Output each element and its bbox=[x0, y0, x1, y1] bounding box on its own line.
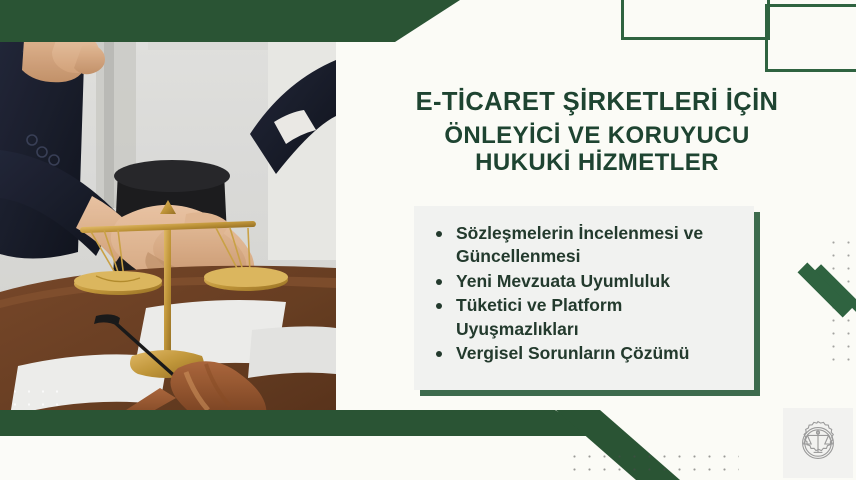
title-line-1: E-TİCARET ŞİRKETLERİ İÇİN bbox=[352, 88, 842, 118]
bottom-dot-grid bbox=[567, 450, 739, 480]
page-title: E-TİCARET ŞİRKETLERİ İÇİN ÖNLEYİCİ VE KO… bbox=[352, 88, 842, 177]
list-item: Sözleşmelerin İncelenmesi ve Güncellenme… bbox=[456, 222, 740, 269]
title-line-3: HUKUKİ HİZMETLER bbox=[352, 149, 842, 177]
list-item: Vergisel Sorunların Çözümü bbox=[456, 342, 740, 365]
list-item: Yeni Mevzuata Uyumluluk bbox=[456, 270, 740, 293]
scales-of-justice-icon bbox=[794, 419, 842, 467]
decor-rectangle-left bbox=[621, 0, 770, 40]
decor-rectangle-right bbox=[765, 4, 856, 72]
poster-canvas: E-TİCARET ŞİRKETLERİ İÇİN ÖNLEYİCİ VE KO… bbox=[0, 0, 856, 480]
services-list: Sözleşmelerin İncelenmesi ve Güncellenme… bbox=[414, 206, 754, 366]
logo-badge bbox=[783, 408, 853, 478]
title-line-2: ÖNLEYİCİ VE KORUYUCU bbox=[352, 122, 842, 150]
hero-photo bbox=[0, 0, 336, 432]
bottom-green-bar bbox=[0, 410, 600, 436]
services-card: Sözleşmelerin İncelenmesi ve Güncellenme… bbox=[414, 206, 754, 390]
list-item: Tüketici ve Platform Uyuşmazlıkları bbox=[456, 294, 740, 341]
card-surface: Sözleşmelerin İncelenmesi ve Güncellenme… bbox=[414, 206, 754, 390]
hero-photo-illustration bbox=[0, 0, 336, 432]
top-green-banner bbox=[0, 0, 460, 42]
